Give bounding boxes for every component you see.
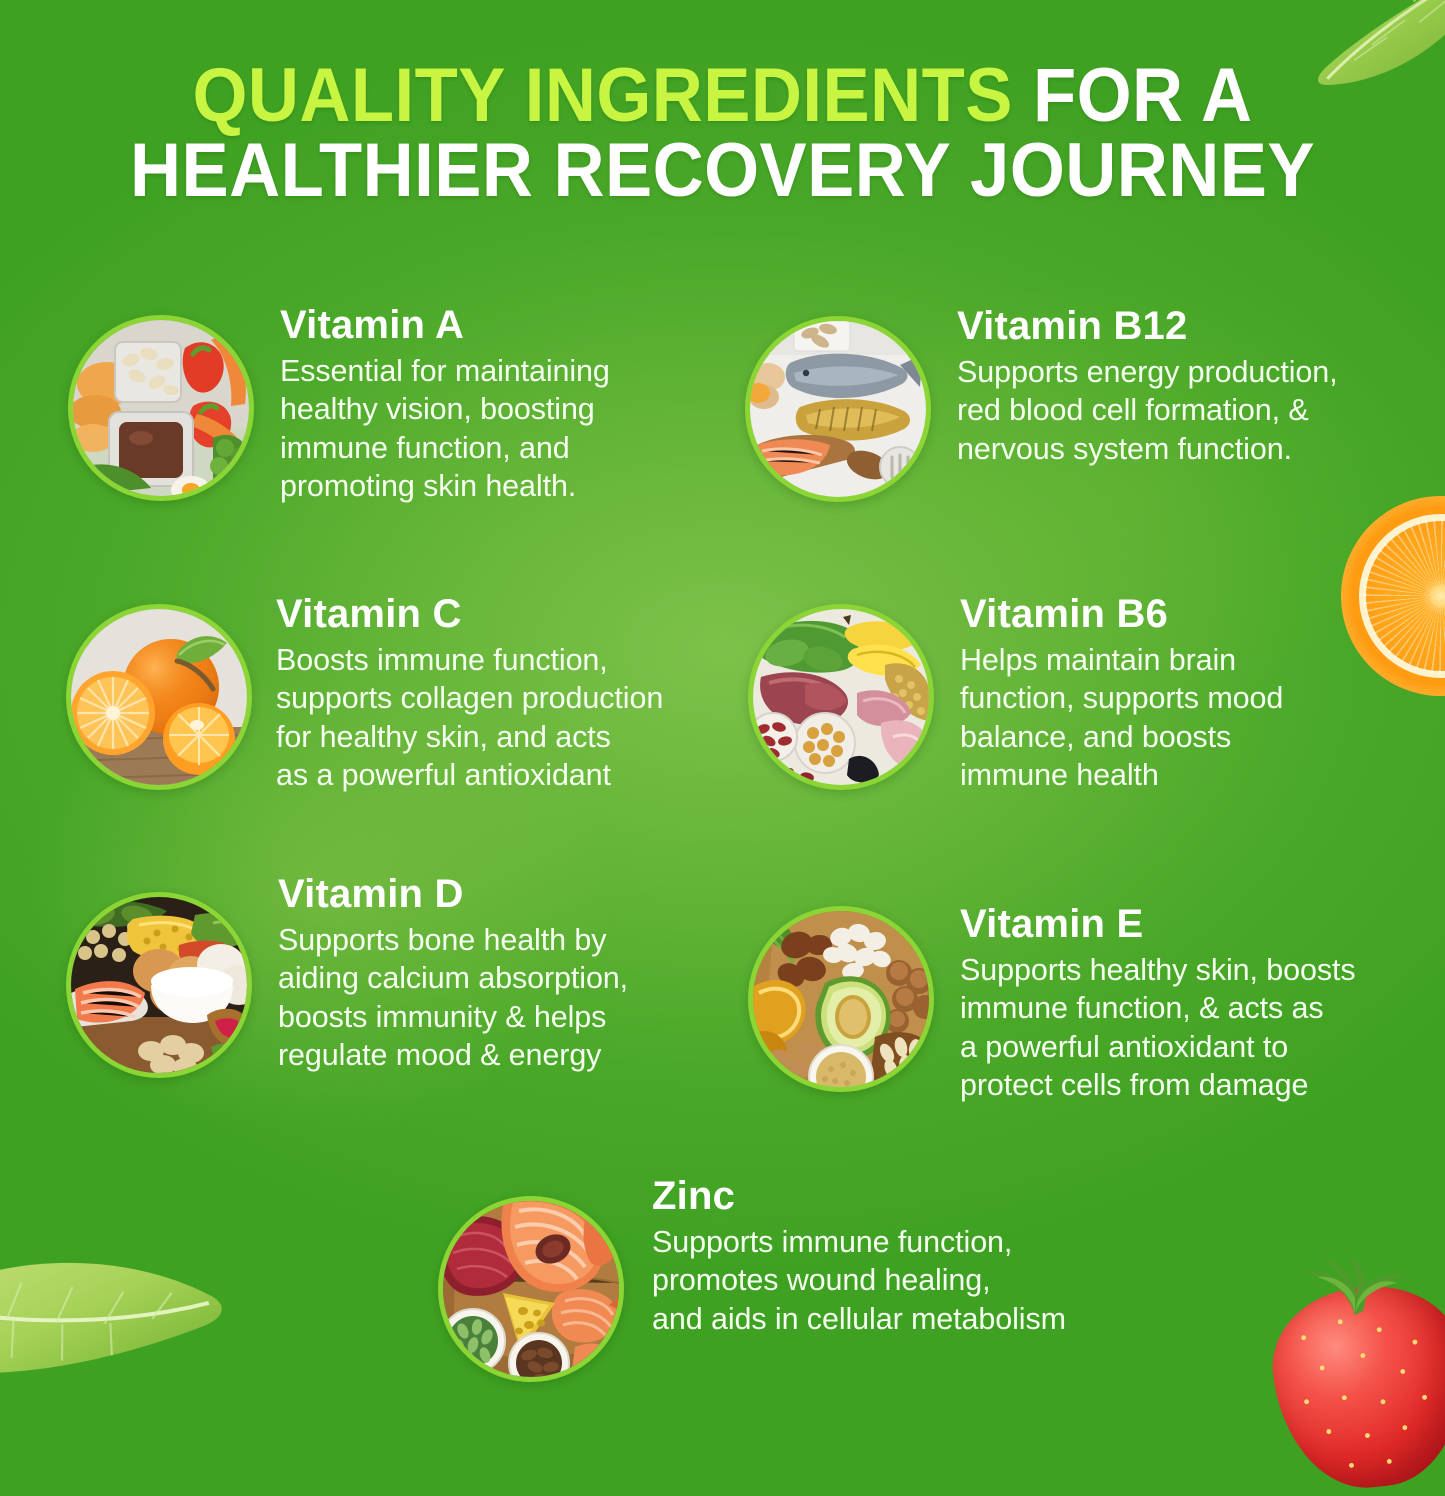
ingredient-item-vitamin-a: Vitamin A Essential for maintaining heal… (68, 315, 680, 505)
ingredient-item-vitamin-b12: Vitamin B12 Supports energy production, … (745, 316, 1397, 502)
page-title-line-2: HEALTHIER RECOVERY JOURNEY (51, 133, 1395, 208)
ingredient-name-vitamin-b6: Vitamin B6 (960, 592, 1360, 637)
ingredient-item-vitamin-e: Vitamin E Supports healthy skin, boosts … (748, 906, 1390, 1104)
ingredient-description-vitamin-b12: Supports energy production, red blood ce… (957, 353, 1397, 468)
ingredient-image-vitamin-b12 (745, 316, 931, 502)
ingredient-description-zinc: Supports immune function, promotes wound… (652, 1223, 1122, 1338)
ingredient-name-zinc: Zinc (652, 1174, 1122, 1219)
ingredient-image-vitamin-c (66, 604, 252, 790)
ingredient-image-vitamin-d (66, 892, 252, 1078)
ingredient-copy-vitamin-a: Vitamin A Essential for maintaining heal… (280, 301, 680, 505)
ingredient-description-vitamin-e: Supports healthy skin, boosts immune fun… (960, 951, 1390, 1104)
ingredient-image-vitamin-b6 (748, 604, 934, 790)
page-title-line-1-rest: FOR A (1013, 53, 1253, 138)
ingredient-description-vitamin-d: Supports bone health by aiding calcium a… (278, 921, 708, 1074)
ingredient-description-vitamin-c: Boosts immune function, supports collage… (276, 641, 746, 794)
ingredient-item-zinc: Zinc Supports immune function, promotes … (438, 1196, 1122, 1382)
ingredient-name-vitamin-a: Vitamin A (280, 303, 680, 348)
ingredient-item-vitamin-c: Vitamin C Boosts immune function, suppor… (66, 604, 746, 794)
ingredient-copy-vitamin-d: Vitamin D Supports bone health by aiding… (278, 870, 708, 1074)
page-title: QUALITY INGREDIENTS FOR A HEALTHIER RECO… (0, 58, 1445, 208)
ingredient-copy-zinc: Zinc Supports immune function, promotes … (652, 1172, 1122, 1338)
ingredient-name-vitamin-e: Vitamin E (960, 902, 1390, 947)
ingredient-copy-vitamin-c: Vitamin C Boosts immune function, suppor… (276, 590, 746, 794)
ingredient-image-vitamin-a (68, 315, 254, 501)
ingredient-copy-vitamin-e: Vitamin E Supports healthy skin, boosts … (960, 900, 1390, 1104)
ingredient-item-vitamin-b6: Vitamin B6 Helps maintain brain function… (748, 604, 1360, 794)
page-title-line-1: QUALITY INGREDIENTS FOR A (51, 58, 1395, 133)
ingredient-description-vitamin-b6: Helps maintain brain function, supports … (960, 641, 1360, 794)
ingredient-name-vitamin-d: Vitamin D (278, 872, 708, 917)
ingredient-copy-vitamin-b6: Vitamin B6 Helps maintain brain function… (960, 590, 1360, 794)
ingredient-image-vitamin-e (748, 906, 934, 1092)
ingredient-image-zinc (438, 1196, 624, 1382)
ingredient-item-vitamin-d: Vitamin D Supports bone health by aiding… (66, 892, 708, 1078)
ingredient-name-vitamin-c: Vitamin C (276, 592, 746, 637)
ingredient-description-vitamin-a: Essential for maintaining healthy vision… (280, 352, 680, 505)
ingredient-copy-vitamin-b12: Vitamin B12 Supports energy production, … (957, 302, 1397, 468)
page-title-accent: QUALITY INGREDIENTS (192, 53, 1012, 138)
ingredient-name-vitamin-b12: Vitamin B12 (957, 304, 1397, 349)
